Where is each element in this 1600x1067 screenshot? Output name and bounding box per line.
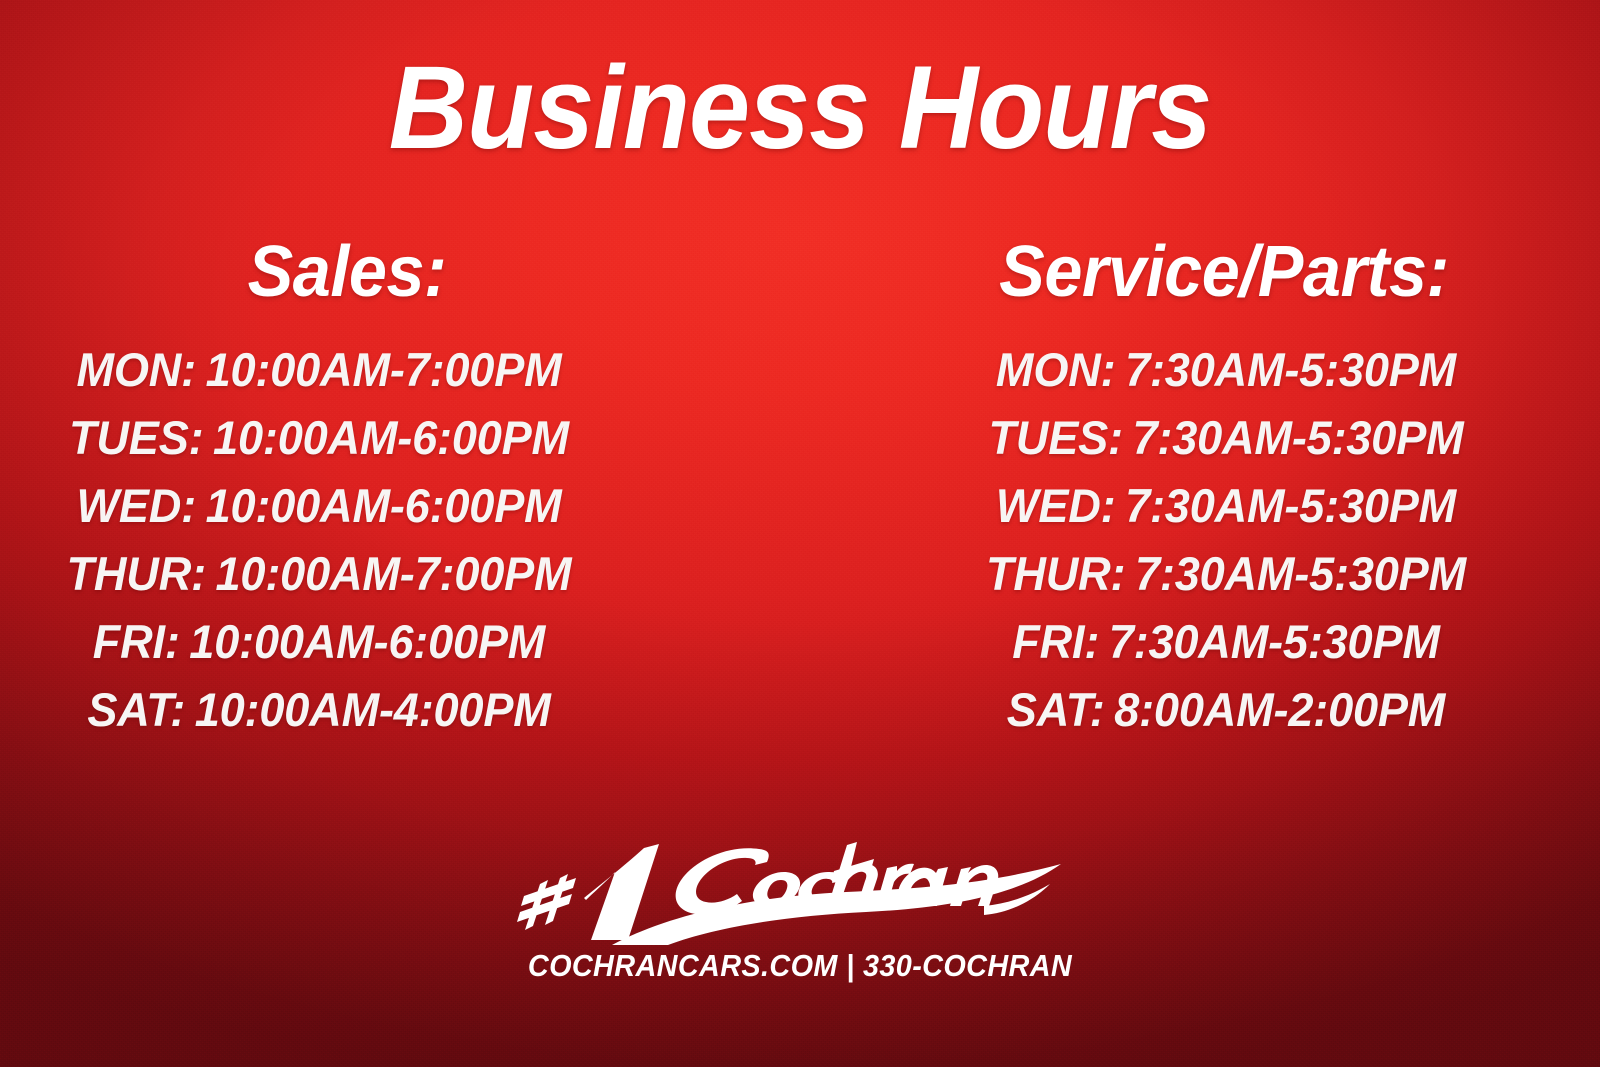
sales-column-heading: Sales: <box>0 236 777 308</box>
day-label: TUES: <box>988 411 1122 464</box>
day-label: FRI: <box>93 615 180 668</box>
day-label: FRI: <box>1012 615 1099 668</box>
day-label: WED: <box>76 479 196 532</box>
service-parts-hours-list: MON:7:30AM-5:30PM TUES:7:30AM-5:30PM WED… <box>852 346 1600 754</box>
hours-row: WED:7:30AM-5:30PM <box>867 482 1585 550</box>
hours-row: WED:10:00AM-6:00PM <box>0 482 781 550</box>
numeral-one <box>584 844 659 940</box>
hours-value: 7:30AM-5:30PM <box>1133 411 1464 464</box>
hours-value: 7:30AM-5:30PM <box>1109 615 1440 668</box>
hours-columns: Sales: MON:10:00AM-7:00PM TUES:10:00AM-6… <box>0 236 1600 754</box>
hours-value: 10:00AM-7:00PM <box>216 547 572 600</box>
hours-value: 7:30AM-5:30PM <box>1125 343 1456 396</box>
day-label: MON: <box>996 343 1116 396</box>
day-label: WED: <box>996 479 1116 532</box>
footer-separator: | <box>846 948 854 983</box>
hours-row: MON:10:00AM-7:00PM <box>0 346 781 414</box>
hours-value: 10:00AM-6:00PM <box>206 479 562 532</box>
hours-value: 10:00AM-6:00PM <box>213 411 569 464</box>
hours-row: TUES:7:30AM-5:30PM <box>867 414 1585 482</box>
day-label: MON: <box>76 343 196 396</box>
hours-value: 8:00AM-2:00PM <box>1114 683 1445 736</box>
cochran-logo <box>516 812 1086 947</box>
hours-row: FRI:10:00AM-6:00PM <box>0 618 781 686</box>
day-label: THUR: <box>986 547 1125 600</box>
sales-hours-column: Sales: MON:10:00AM-7:00PM TUES:10:00AM-6… <box>0 236 800 754</box>
day-label: TUES: <box>69 411 203 464</box>
hours-value: 7:30AM-5:30PM <box>1135 547 1466 600</box>
hours-row: SAT:8:00AM-2:00PM <box>867 686 1585 754</box>
hash-symbol-icon <box>517 874 576 930</box>
hours-row: FRI:7:30AM-5:30PM <box>867 618 1585 686</box>
hours-row: MON:7:30AM-5:30PM <box>867 346 1585 414</box>
hours-row: THUR:10:00AM-7:00PM <box>0 550 781 618</box>
hours-row: THUR:7:30AM-5:30PM <box>867 550 1585 618</box>
hours-value: 10:00AM-4:00PM <box>195 683 551 736</box>
hours-value: 7:30AM-5:30PM <box>1125 479 1456 532</box>
day-label: SAT: <box>87 683 185 736</box>
cochran-script-wordmark <box>676 842 1050 915</box>
day-label: SAT: <box>1007 683 1105 736</box>
service-parts-hours-column: Service/Parts: MON:7:30AM-5:30PM TUES:7:… <box>800 236 1600 754</box>
footer-phone[interactable]: 330-COCHRAN <box>863 948 1072 983</box>
business-hours-poster: Business Hours Sales: MON:10:00AM-7:00PM… <box>0 0 1600 1067</box>
footer-website[interactable]: COCHRANCARS.COM <box>528 948 838 983</box>
sales-hours-list: MON:10:00AM-7:00PM TUES:10:00AM-6:00PM W… <box>0 346 800 754</box>
hours-value: 10:00AM-6:00PM <box>189 615 545 668</box>
hours-value: 10:00AM-7:00PM <box>206 343 562 396</box>
hours-row: TUES:10:00AM-6:00PM <box>0 414 781 482</box>
hours-row: SAT:10:00AM-4:00PM <box>0 686 781 754</box>
page-title: Business Hours <box>56 46 1544 171</box>
service-parts-column-heading: Service/Parts: <box>867 236 1581 308</box>
cochran-logo-svg <box>516 812 1086 947</box>
footer-contact: COCHRANCARS.COM | 330-COCHRAN <box>56 948 1544 984</box>
day-label: THUR: <box>67 547 206 600</box>
